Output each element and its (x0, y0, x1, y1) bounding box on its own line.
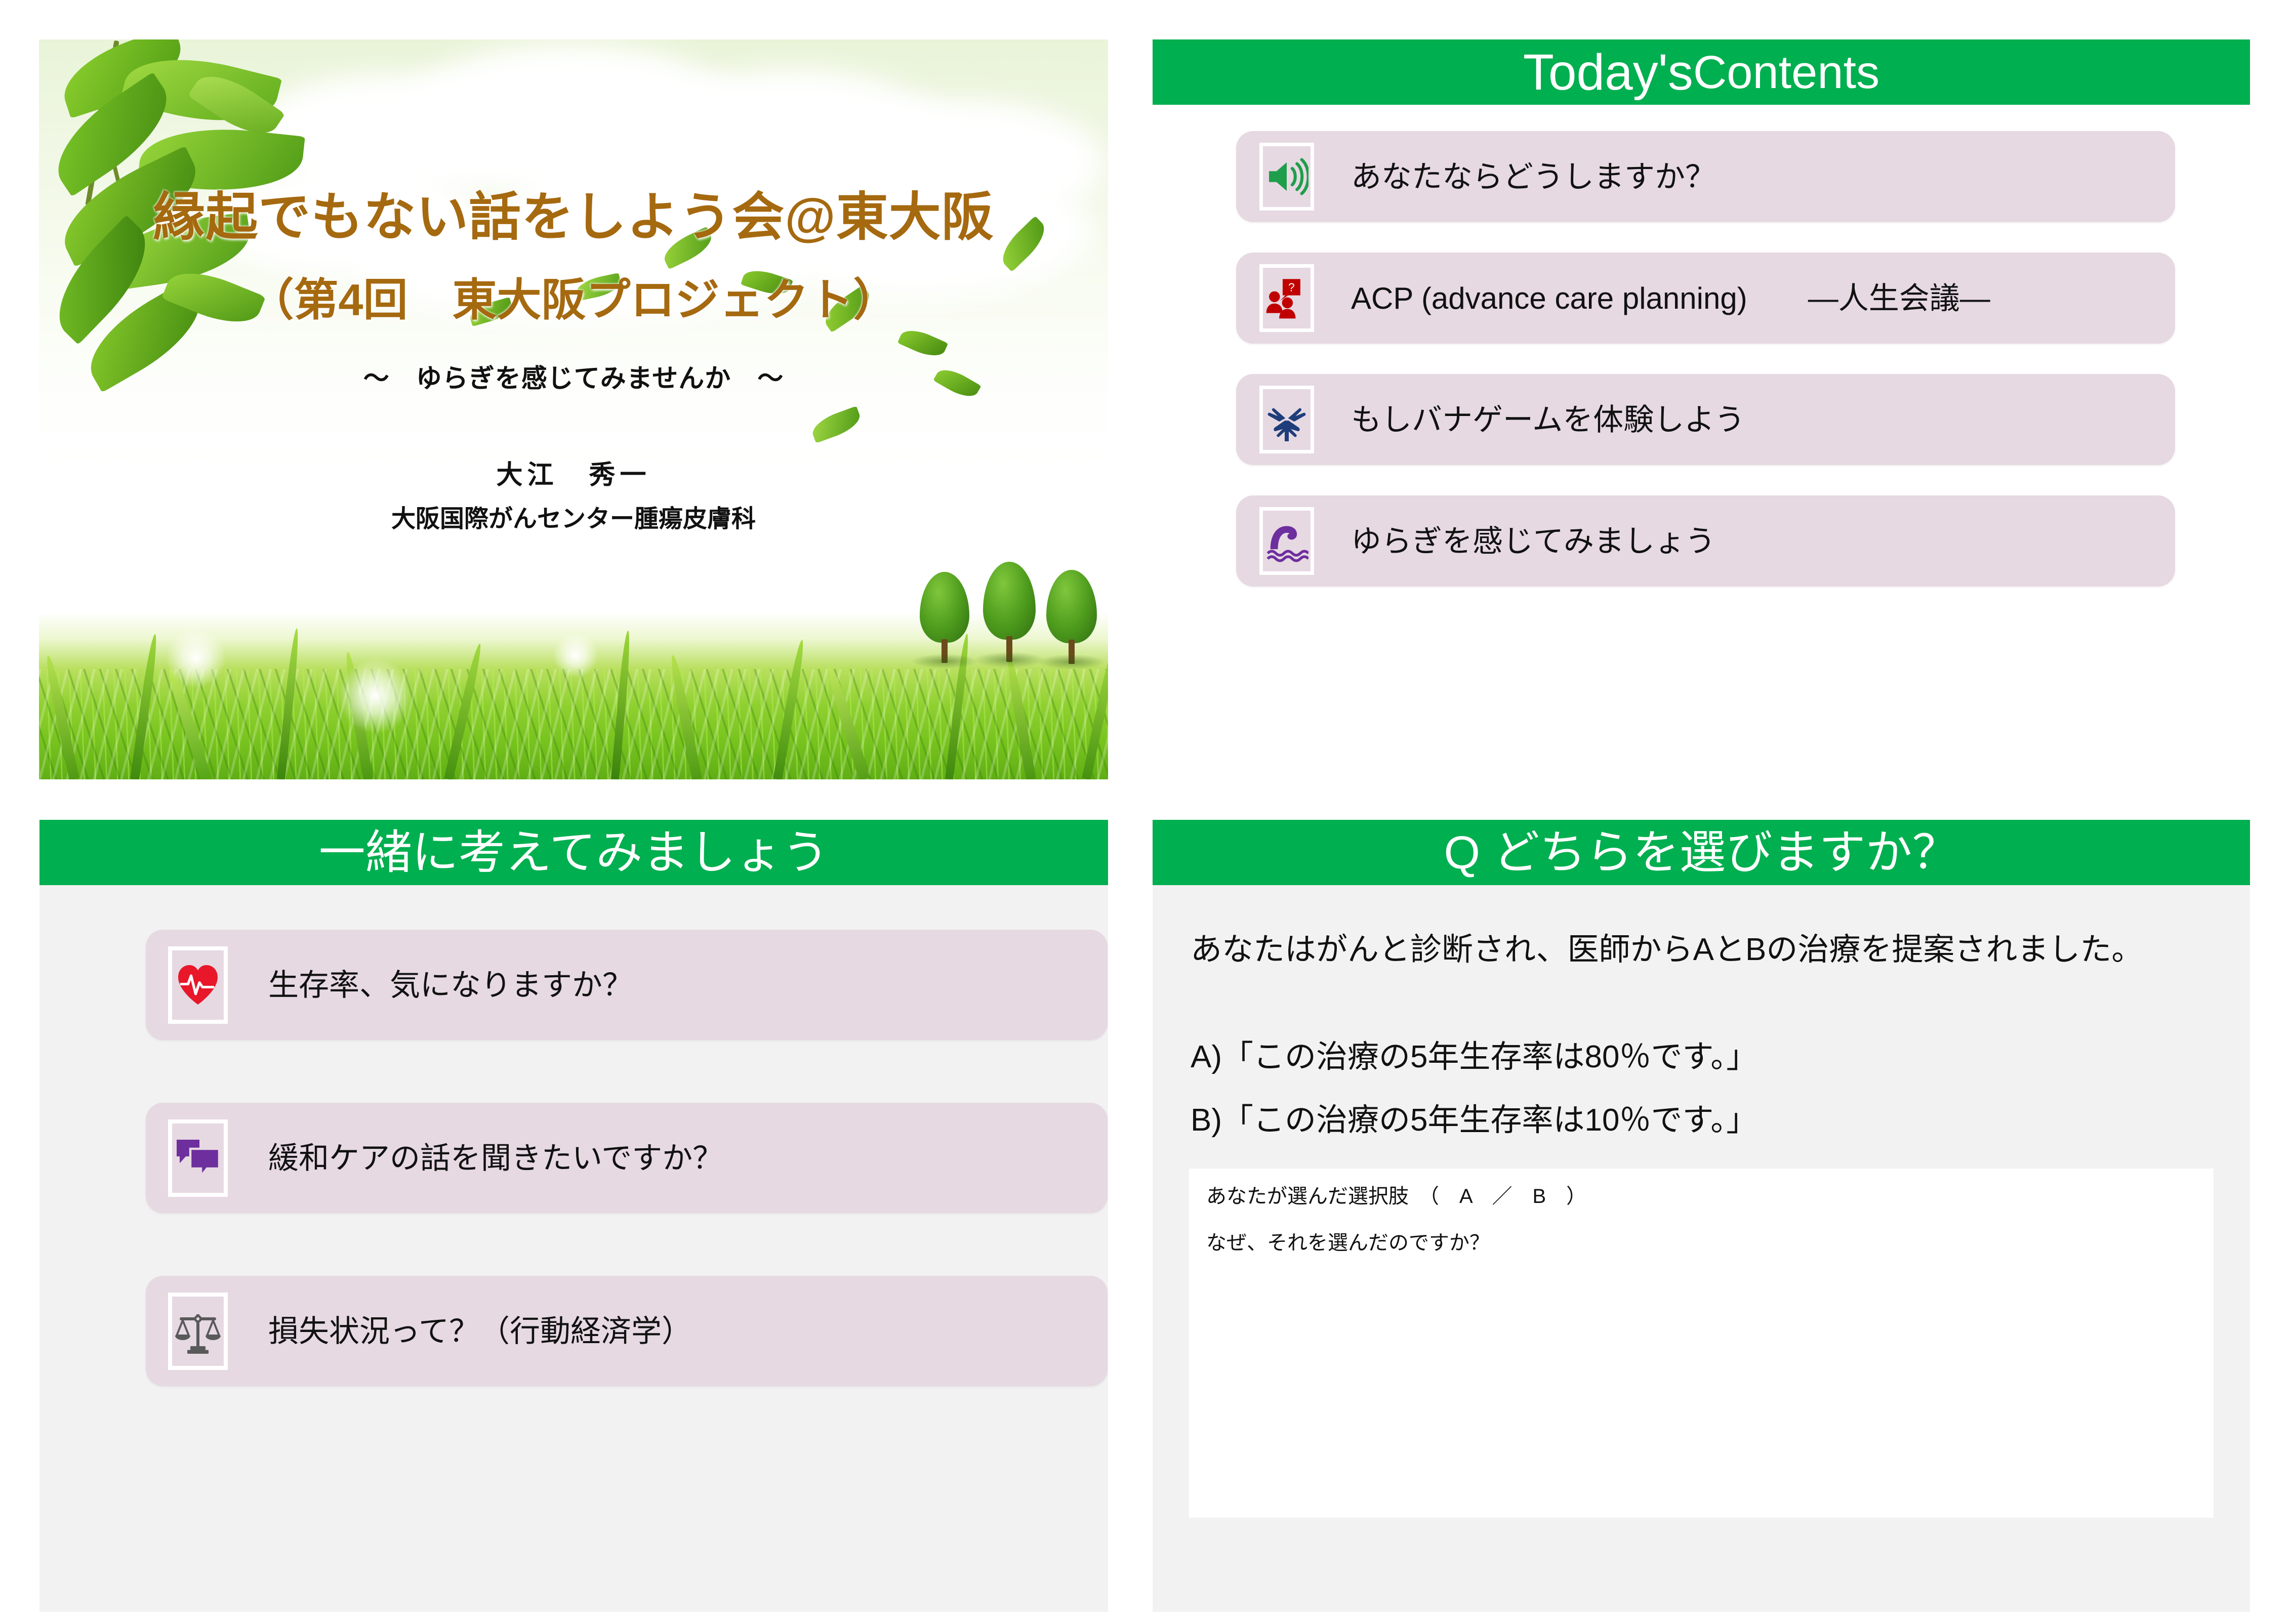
sparkle-icon (166, 628, 226, 688)
list-item-label: 緩和ケアの話を聞きたいですか？ (268, 1139, 723, 1177)
page-tagline: ～ ゆらぎを感じてみませんか ～ (39, 357, 1108, 395)
consider-together-panel: 一緒に考えてみましょう 生存率、気になりますか？ (39, 820, 1108, 1612)
list-item-label: 生存率、気になりますか？ (268, 966, 633, 1004)
list-item-label: ゆらぎを感じてみましょう (1351, 522, 1715, 560)
list-item[interactable]: 生存率、気になりますか？ (146, 930, 1108, 1040)
list-item[interactable]: あなたならどうしますか？ (1236, 131, 2175, 222)
tree-icon (983, 562, 1036, 662)
question-prompt: あなたはがんと診断され、医師からAとBの治療を提案されました。 (1191, 930, 2218, 971)
contents-panel-body: あなたならどうしますか？ ? ACP (advance care planni (1153, 105, 2250, 779)
wave-icon (1259, 507, 1314, 575)
consider-panel-header: 一緒に考えてみましょう (39, 820, 1108, 885)
page-subtitle: （第4回 東大阪プロジェクト） (39, 274, 1108, 325)
scales-icon (168, 1293, 228, 1370)
list-item-label: 損失状況って？（行動経済学） (268, 1312, 692, 1350)
answer-prompt-reason: なぜ、それを選んだのですか？ (1206, 1228, 2196, 1258)
tree-icon (1046, 570, 1097, 664)
question-option-a[interactable]: A)「この治療の5年生存率は80％です。」 (1191, 1037, 2152, 1078)
sparkle-icon (553, 633, 598, 678)
speaker-icon (1259, 143, 1314, 211)
consider-panel-body: 生存率、気になりますか？ 緩和ケアの話を聞きたいですか？ (39, 885, 1108, 1612)
heart-pulse-icon (168, 946, 228, 1024)
list-item[interactable]: ? ACP (advance care planning) ―人生会議― (1236, 253, 2175, 344)
hands-together-icon (1259, 386, 1314, 453)
list-item-label: あなたならどうしますか？ (1351, 158, 1715, 196)
question-panel-header: Q どちらを選びますか？ (1153, 820, 2250, 885)
tree-icon (920, 572, 969, 663)
list-item[interactable]: ゆらぎを感じてみましょう (1236, 495, 2175, 587)
list-item[interactable]: 緩和ケアの話を聞きたいですか？ (146, 1103, 1108, 1213)
speaker-affiliation: 大阪国際がんセンター腫瘍皮膚科 (39, 498, 1108, 534)
todays-contents-panel: Today's Contents あなたならどうしますか？ (1153, 39, 2250, 779)
list-item[interactable]: 損失状況って？（行動経済学） (146, 1276, 1108, 1386)
page-title: 縁起でもない話をしよう会@東大阪 (39, 187, 1108, 247)
list-item-label: もしバナゲームを体験しよう (1351, 401, 1745, 439)
list-item[interactable]: もしバナゲームを体験しよう (1236, 374, 2175, 465)
contents-header-secondary: Contents (1693, 49, 1879, 96)
contents-panel-header: Today's Contents (1153, 39, 2250, 105)
answer-input-box[interactable]: あなたが選んだ選択肢 （ A ／ B ） なぜ、それを選んだのですか？ (1189, 1169, 2214, 1518)
speaker-name: 大江 秀一 (39, 453, 1108, 491)
question-option-b[interactable]: B)「この治療の5年生存率は10％です。」 (1191, 1100, 2152, 1141)
list-item-label: ACP (advance care planning) ―人生会議― (1351, 279, 1990, 317)
answer-prompt-choice: あなたが選んだ選択肢 （ A ／ B ） (1206, 1182, 2196, 1211)
people-question-icon: ? (1259, 264, 1314, 332)
sparkle-icon (338, 658, 414, 734)
title-slide: 縁起でもない話をしよう会@東大阪 （第4回 東大阪プロジェクト） ～ ゆらぎを感… (39, 39, 1108, 779)
contents-header-primary: Today's (1523, 47, 1693, 98)
question-panel: Q どちらを選びますか？ あなたはがんと診断され、医師からAとBの治療を提案され… (1153, 820, 2250, 1612)
speech-bubbles-icon (168, 1119, 228, 1197)
question-panel-body: あなたはがんと診断され、医師からAとBの治療を提案されました。 A)「この治療の… (1153, 885, 2250, 1612)
svg-text:?: ? (1288, 281, 1295, 294)
